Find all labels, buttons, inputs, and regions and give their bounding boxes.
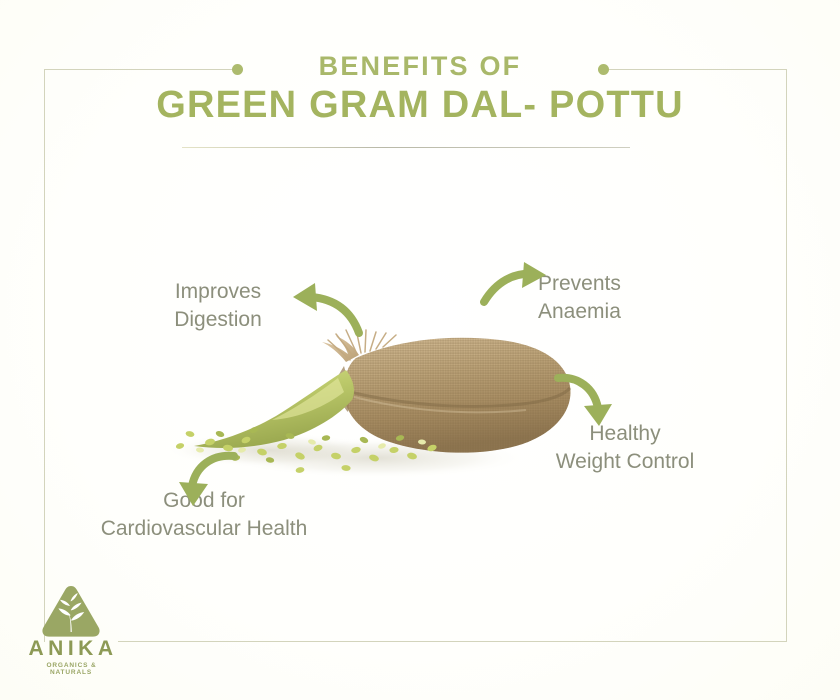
title-kicker: BENEFITS OF: [0, 52, 840, 80]
infographic-canvas: BENEFITS OF GREEN GRAM DAL- POTTU: [0, 0, 840, 700]
brand-logo: ANIKA ORGANICS & NATURALS: [24, 584, 118, 676]
brand-tagline: ORGANICS & NATURALS: [24, 662, 118, 676]
brand-name: ANIKA: [24, 637, 118, 661]
benefit-label-prevents-anaemia: Prevents Anaemia: [538, 270, 698, 327]
leaf-in-triangle-icon: [40, 584, 102, 638]
frame-border-bottom: [118, 641, 787, 642]
heading-block: BENEFITS OF GREEN GRAM DAL- POTTU: [0, 52, 840, 128]
arrow-right-icon: [480, 262, 550, 312]
benefit-label-improves-digestion: Improves Digestion: [158, 278, 278, 335]
page-title: GREEN GRAM DAL- POTTU: [0, 84, 840, 128]
frame-border-right: [786, 69, 787, 642]
title-divider: [182, 147, 630, 148]
frame-border-left: [44, 69, 45, 642]
arrow-down-right-icon: [552, 370, 616, 430]
arrow-down-left-icon: [176, 448, 240, 510]
arrow-left-icon: [285, 281, 365, 339]
